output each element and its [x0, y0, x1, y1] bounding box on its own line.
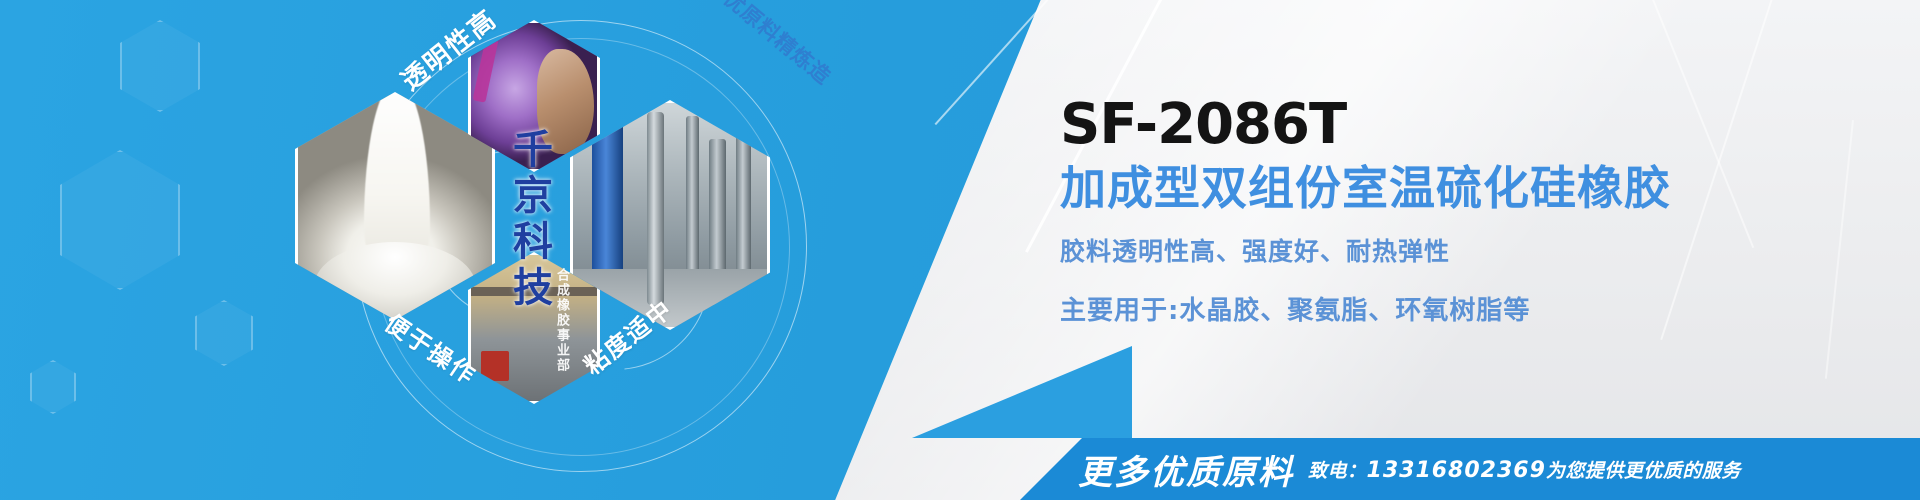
- contact-title: 更多优质原料: [1078, 445, 1294, 494]
- product-headline: 加成型双组份室温硫化硅橡胶: [1060, 163, 1900, 215]
- contact-prefix: 致电：: [1308, 456, 1367, 483]
- product-feature-line: 胶料透明性高、强度好、耐热弹性: [1060, 232, 1900, 268]
- department-name-vertical: 合成橡胶事业部: [552, 268, 571, 373]
- product-model: SF-2086T: [1060, 96, 1900, 155]
- product-usage-line: 主要用于:水晶胶、聚氨脂、环氧树脂等: [1060, 290, 1900, 327]
- contact-phone-number[interactable]: 13316802369: [1367, 458, 1546, 483]
- contact-suffix: 为您提供更优质的服务: [1546, 456, 1741, 483]
- product-banner: 透明性高 优原料精炼造 便于操作 粘度适中 千京科技 合成橡胶事业部 SF-20…: [0, 0, 1920, 500]
- contact-bar: 更多优质原料 致电： 13316802369 为您提供更优质的服务: [1020, 438, 1920, 500]
- product-copy-block: SF-2086T 加成型双组份室温硫化硅橡胶 胶料透明性高、强度好、耐热弹性 主…: [1060, 96, 1900, 327]
- brand-name-vertical: 千京科技: [500, 128, 558, 312]
- contact-details: 致电： 13316802369 为您提供更优质的服务: [1308, 456, 1741, 483]
